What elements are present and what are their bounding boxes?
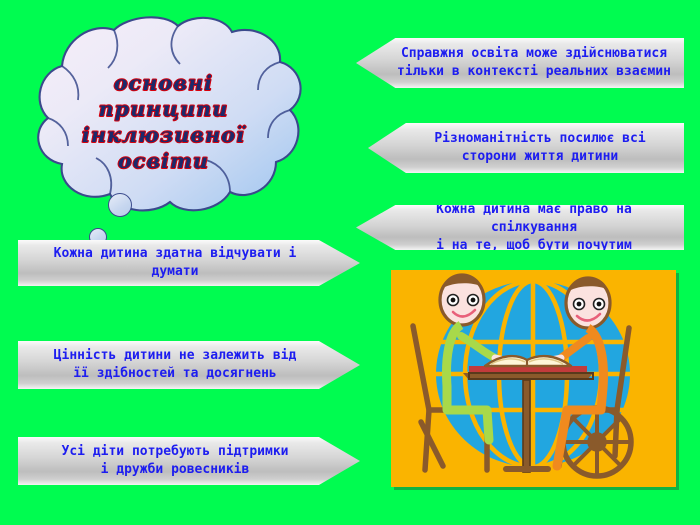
banner-real-education: Справжня освіта може здійснюватися тільк…	[356, 38, 684, 88]
banner-support-and-friendship: Усі діти потребують підтримки і дружби р…	[18, 437, 360, 485]
banner-right-to-communicate: Кожна дитина має право на спілкування і …	[356, 205, 684, 250]
thought-bubble-large	[108, 193, 132, 217]
banner-text: Різноманітність посилює всі сторони житт…	[400, 130, 651, 166]
cloud-title-text: основні принципи інклюзивної освіти	[56, 44, 271, 200]
cloud-title-label: основні принципи інклюзивної освіти	[56, 70, 271, 174]
illustration-svg	[391, 270, 676, 487]
slide-canvas: основні принципи інклюзивної освіти Спра…	[0, 0, 700, 525]
thought-cloud: основні принципи інклюзивної освіти	[18, 14, 308, 264]
banner-every-child-can-feel: Кожна дитина здатна відчувати і думати	[18, 240, 360, 286]
banner-diversity: Різноманітність посилює всі сторони житт…	[368, 123, 684, 173]
banner-text: Цінність дитини не залежить від її здібн…	[48, 347, 331, 383]
banner-text: Кожна дитина здатна відчувати і думати	[48, 245, 331, 281]
banner-child-value: Цінність дитини не залежить від її здібн…	[18, 341, 360, 389]
banner-text: Кожна дитина має право на спілкування і …	[356, 201, 684, 255]
banner-text: Справжня освіта може здійснюватися тільк…	[363, 45, 677, 81]
inclusive-education-illustration	[391, 270, 676, 487]
banner-text: Усі діти потребують підтримки і дружби р…	[56, 443, 323, 479]
